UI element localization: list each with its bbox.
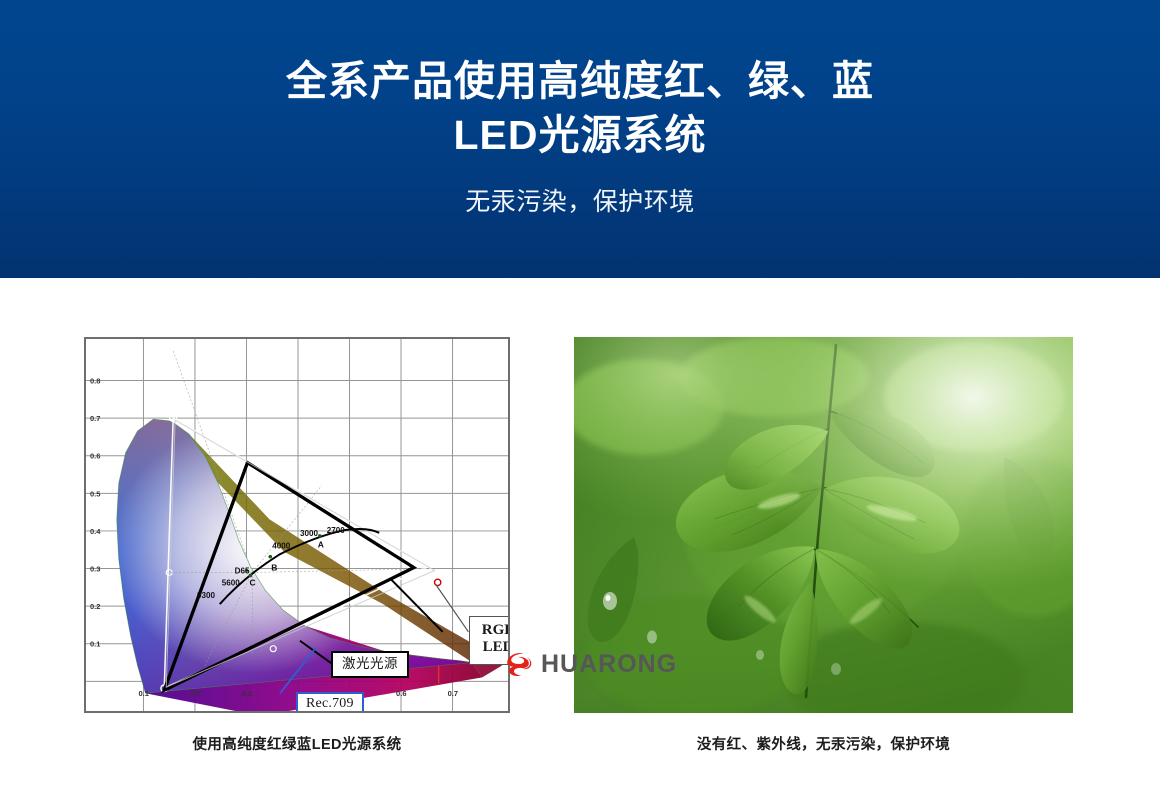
y-axis-tick-labels: 0.8 0.7 0.6 0.5 0.4 0.3 0.2 0.1 xyxy=(90,377,101,649)
ytick-0.6: 0.6 xyxy=(90,452,100,461)
cie-chart-svg: 5600 4000 3000 2700 D65 9300 A B C 0 xyxy=(86,339,508,711)
leaf-photo-svg xyxy=(574,337,1073,713)
ytick-0.8: 0.8 xyxy=(90,377,100,386)
gamut-top-face xyxy=(86,339,508,711)
chromaticity-diagram-panel: 5600 4000 3000 2700 D65 9300 A B C 0 xyxy=(84,337,510,713)
callout-rgb-line2: LED xyxy=(474,639,510,656)
green-leaves-photo-panel xyxy=(574,337,1073,713)
ytick-0.2: 0.2 xyxy=(90,602,100,611)
ytick-0.1: 0.1 xyxy=(90,640,100,649)
callout-rgb-line1: RGB xyxy=(474,622,510,639)
header-banner: 全系产品使用高纯度红、绿、蓝 LED光源系统 无汞污染，保护环境 xyxy=(0,0,1160,278)
label-3000: 3000 xyxy=(300,529,319,538)
ytick-0.4: 0.4 xyxy=(90,527,101,536)
label-9300: 9300 xyxy=(197,591,216,600)
xtick-0.7: 0.7 xyxy=(448,689,458,698)
cie-chart-frame: 5600 4000 3000 2700 D65 9300 A B C 0 xyxy=(84,337,510,713)
label-4000: 4000 xyxy=(272,542,291,551)
label-illuminant-a: A xyxy=(318,540,324,550)
callout-rec709: Rec.709 xyxy=(296,692,364,713)
callout-rgb-led: RGB LED xyxy=(469,616,510,665)
page-title-line-2: LED光源系统 xyxy=(454,108,707,162)
label-2700: 2700 xyxy=(327,526,346,535)
label-5600: 5600 xyxy=(222,578,241,587)
ytick-0.3: 0.3 xyxy=(90,565,100,574)
page-title-line-1: 全系产品使用高纯度红、绿、蓝 xyxy=(286,54,874,108)
content-area: 5600 4000 3000 2700 D65 9300 A B C 0 xyxy=(0,278,1160,792)
label-illuminant-b: B xyxy=(271,563,277,573)
left-panel-caption: 使用高纯度红绿蓝LED光源系统 xyxy=(84,733,510,754)
xtick-0.2: 0.2 xyxy=(190,689,200,698)
header-content: 全系产品使用高纯度红、绿、蓝 LED光源系统 无汞污染，保护环境 xyxy=(0,0,1160,278)
leaf-photo xyxy=(574,337,1073,713)
illuminant-b-point xyxy=(268,555,272,559)
slide-page: 全系产品使用高纯度红、绿、蓝 LED光源系统 无汞污染，保护环境 xyxy=(0,0,1160,792)
ytick-0.7: 0.7 xyxy=(90,414,100,423)
callout-laser-source: 激光光源 xyxy=(331,651,409,678)
label-d65: D65 xyxy=(235,566,250,575)
illuminant-a-point xyxy=(318,534,322,538)
label-illuminant-c: C xyxy=(249,577,255,587)
ytick-0.5: 0.5 xyxy=(90,489,100,498)
right-panel-caption: 没有红、紫外线，无汞污染，保护环境 xyxy=(574,733,1073,754)
xtick-0.6: 0.6 xyxy=(396,689,406,698)
xtick-0.1: 0.1 xyxy=(139,689,149,698)
xtick-0.3: 0.3 xyxy=(242,689,252,698)
page-subtitle: 无汞污染，保护环境 xyxy=(465,185,695,219)
